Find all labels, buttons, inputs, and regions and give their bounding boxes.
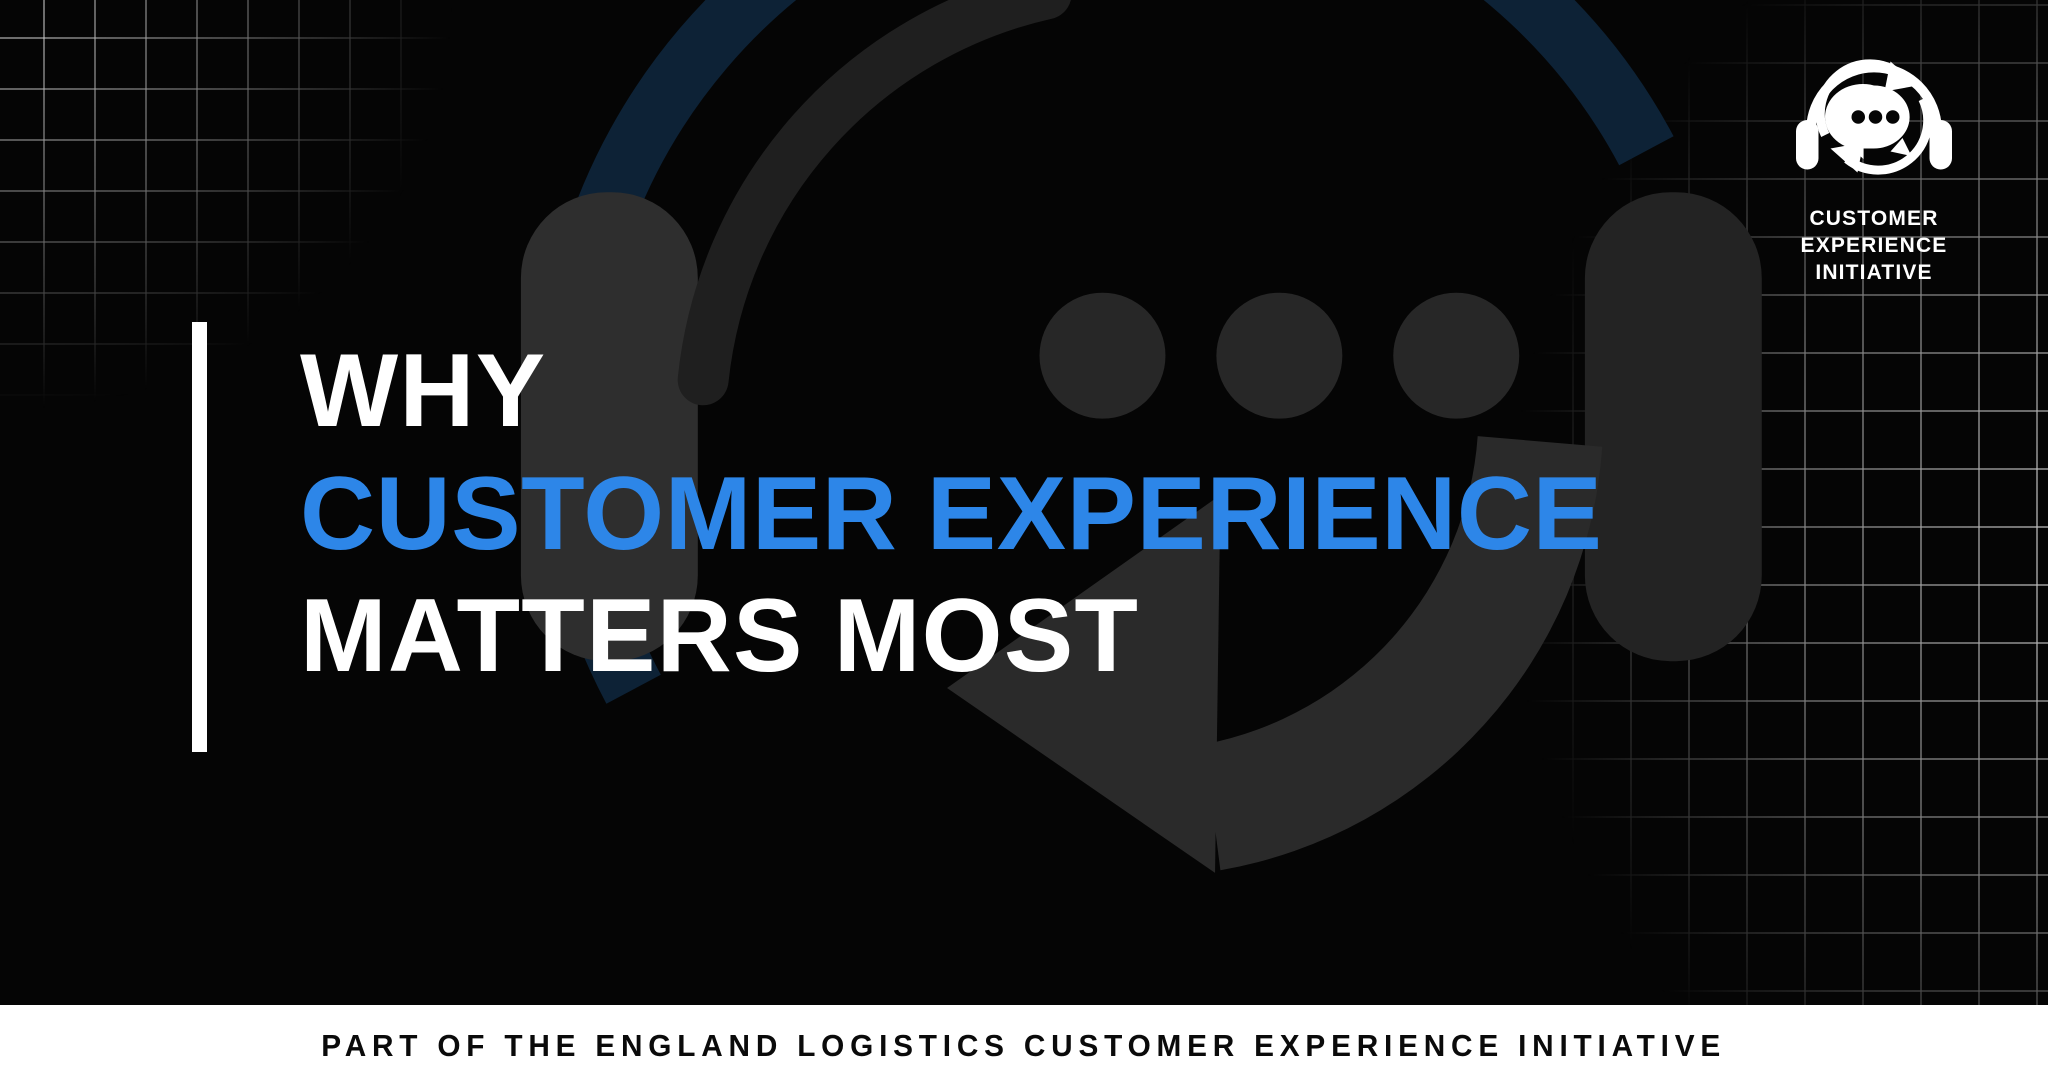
promo-banner-canvas: WHY CUSTOMER EXPERIENCE MATTERS MOST: [0, 0, 2048, 1087]
page-title: WHY CUSTOMER EXPERIENCE MATTERS MOST: [300, 330, 1760, 698]
logo-word-line-2: EXPERIENCE: [1768, 233, 1980, 260]
headset-chat-refresh-icon: [1790, 42, 1958, 192]
headline-line-3: MATTERS MOST: [300, 575, 1760, 698]
logo-word-line-1: CUSTOMER: [1768, 206, 1980, 233]
logo-word-line-3: INITIATIVE: [1768, 260, 1980, 287]
logo-lockup: CUSTOMER EXPERIENCE INITIATIVE: [1768, 42, 1980, 287]
headline-line-1: WHY: [300, 330, 1760, 453]
headline-line-2-accent: CUSTOMER EXPERIENCE: [300, 453, 1760, 576]
bottom-banner-text: PART OF THE ENGLAND LOGISTICS CUSTOMER E…: [322, 1028, 1727, 1064]
vertical-accent-rule: [192, 322, 207, 752]
hero-section: WHY CUSTOMER EXPERIENCE MATTERS MOST: [0, 0, 2048, 1005]
bottom-banner: PART OF THE ENGLAND LOGISTICS CUSTOMER E…: [0, 1005, 2048, 1087]
